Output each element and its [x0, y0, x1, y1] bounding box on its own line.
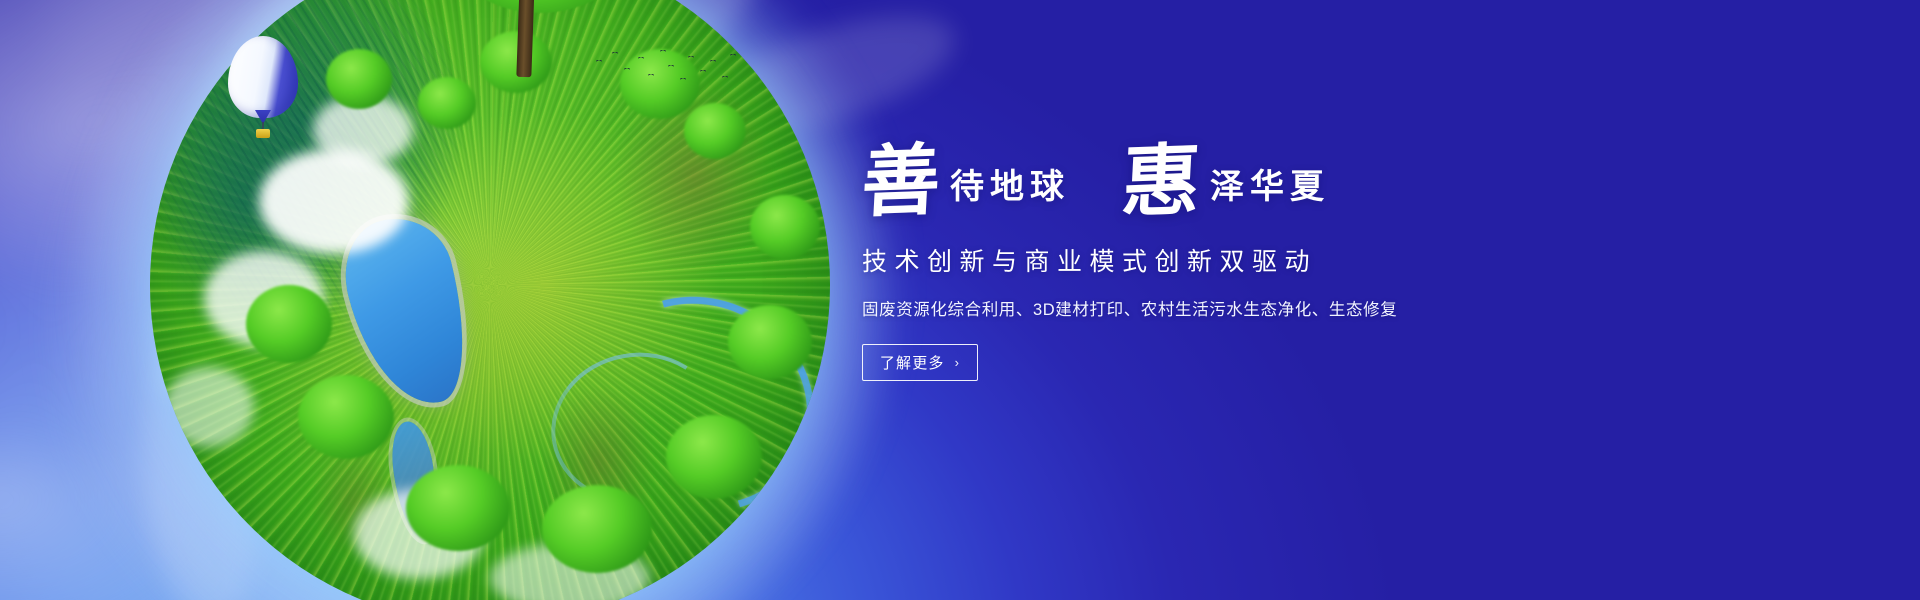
learn-more-label: 了解更多 — [880, 352, 945, 373]
bird-icon — [660, 50, 666, 53]
tree-canopy — [246, 285, 332, 363]
chevron-right-icon: › — [955, 355, 961, 370]
tree-canopy — [418, 77, 476, 129]
headline-brush-char-2: 惠 — [1120, 145, 1202, 219]
tree-canopy — [542, 485, 652, 573]
tree-canopy — [298, 375, 394, 459]
balloon-basket — [256, 129, 270, 138]
tagline: 技术创新与商业模式创新双驱动 — [862, 242, 1482, 278]
bird-icon — [648, 74, 654, 77]
banner-content: 善 待地球 惠 泽华夏 技术创新与商业模式创新双驱动 固废资源化综合利用、3D建… — [862, 132, 1482, 381]
bird-icon — [668, 65, 674, 68]
bird-flock — [590, 48, 740, 92]
tree-canopy — [750, 195, 820, 259]
bird-icon — [710, 60, 716, 63]
bird-icon — [730, 54, 736, 57]
bird-icon — [596, 60, 602, 63]
headline: 善 待地球 惠 泽华夏 — [862, 132, 1482, 218]
headline-rest-2: 泽华夏 — [1210, 159, 1330, 218]
tree-canopy — [406, 465, 510, 551]
description: 固废资源化综合利用、3D建材打印、农村生活污水生态净化、生态修复 — [862, 296, 1482, 320]
bird-icon — [624, 68, 630, 71]
headline-brush-char-1: 善 — [860, 145, 942, 219]
balloon-envelope — [228, 36, 298, 118]
hero-banner: 善 待地球 惠 泽华夏 技术创新与商业模式创新双驱动 固废资源化综合利用、3D建… — [0, 0, 1920, 600]
bird-icon — [612, 52, 618, 55]
planet-cloud — [164, 367, 254, 447]
planet-cloud — [259, 149, 409, 254]
headline-rest-1: 待地球 — [950, 159, 1070, 218]
tree-canopy — [666, 415, 762, 499]
tree-canopy — [728, 305, 812, 379]
bird-icon — [722, 76, 728, 79]
hot-air-balloon — [228, 36, 298, 140]
tree-canopy — [684, 103, 746, 159]
bird-icon — [688, 56, 694, 59]
tree-canopy — [326, 49, 392, 109]
bird-icon — [638, 57, 644, 60]
learn-more-button[interactable]: 了解更多 › — [862, 344, 978, 381]
bird-icon — [700, 70, 706, 73]
bird-icon — [680, 78, 686, 81]
